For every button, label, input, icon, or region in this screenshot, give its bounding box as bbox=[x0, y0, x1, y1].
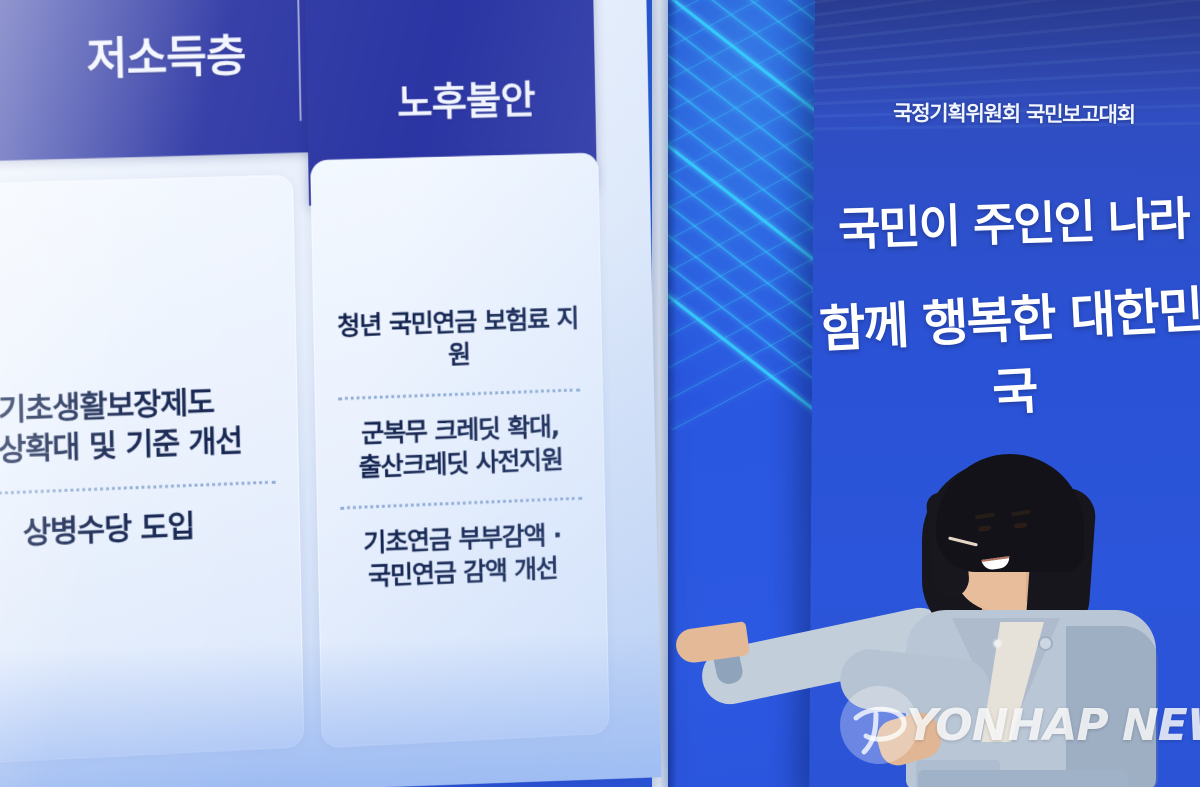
banner-headline-line1: 국민이 주인인 나라 bbox=[812, 182, 1200, 261]
presenter-lapel-pin bbox=[1038, 636, 1053, 651]
presentation-slide: 저소득층 노후불안 기초생활보장제도대상확대 및 기준 개선상병수당 도입 청년… bbox=[0, 0, 662, 787]
policy-item: 상병수당 도입 bbox=[0, 487, 287, 574]
banner-subtitle: 국정기획위원회 국민보고대회 bbox=[814, 97, 1200, 130]
presenter-skirt bbox=[918, 770, 1128, 787]
presenter-necklace bbox=[994, 640, 1001, 647]
watermark-text: YONHAP NEWS bbox=[906, 700, 1200, 751]
slide-bottom-gradient bbox=[0, 631, 662, 787]
policy-item: 군복무 크레딧 확대,출산크레딧 사전지원 bbox=[329, 395, 592, 503]
watermark: YONHAP NEWS bbox=[840, 690, 1190, 768]
policy-item: 기초연금 부부감액 ·국민연금 감액 개선 bbox=[331, 503, 594, 612]
tab-label-low-income: 저소득층 bbox=[86, 20, 246, 88]
tab-label-retirement: 노후불안 bbox=[397, 68, 535, 128]
banner-headline-line2: 함께 행복한 대한민국 bbox=[809, 270, 1200, 435]
yonhap-swoosh-icon bbox=[846, 696, 912, 762]
policy-item: 기초생활보장제도대상확대 및 기준 개선 bbox=[0, 365, 285, 490]
photo-stage: 국정기획위원회 국민보고대회 국민이 주인인 나라 함께 행복한 대한민국 bbox=[0, 0, 1200, 787]
stage-pillar-shadow bbox=[668, 0, 677, 787]
policy-item: 청년 국민연금 보험료 지원 bbox=[326, 287, 589, 394]
